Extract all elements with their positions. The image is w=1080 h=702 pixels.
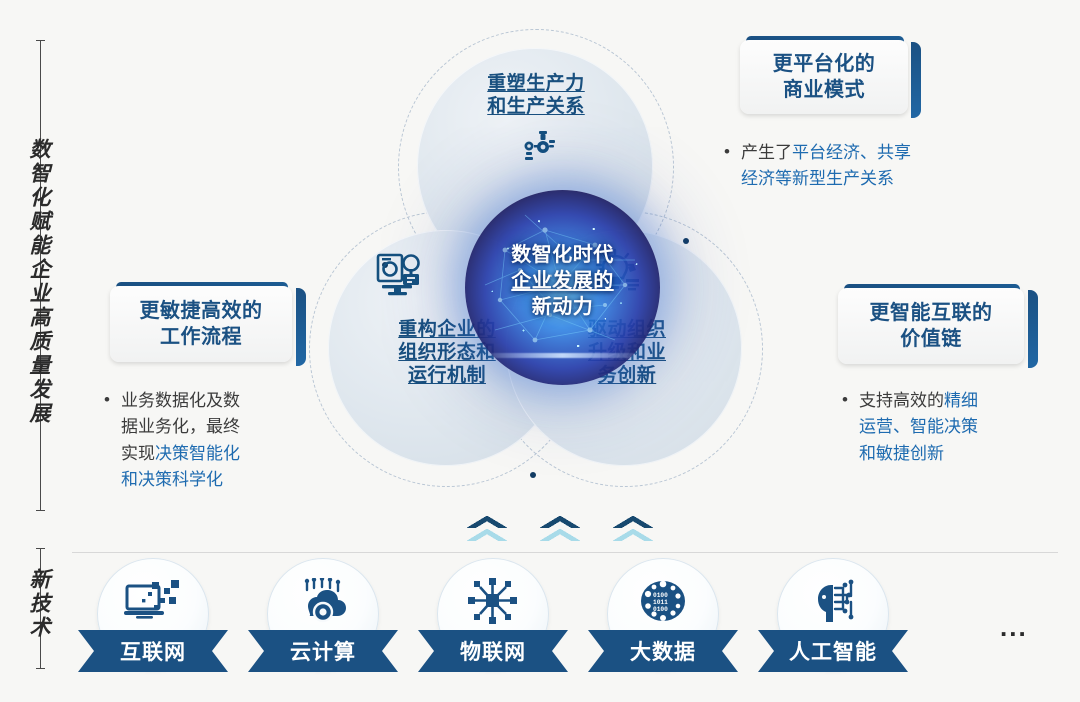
svg-text:0100: 0100 [653,606,668,613]
axis-cap-top [36,40,45,41]
globe-base-reflection [477,353,649,358]
card-valuechain[interactable]: 更智能互联的 价值链 [838,284,1038,374]
monitor-analysis-icon [376,252,428,303]
card-platform[interactable]: 更平台化的 商业模式 [740,36,920,124]
tech-label: 人工智能 [789,636,877,666]
card-workflow[interactable]: 更敏捷高效的 工作流程 [110,282,305,372]
tech-label: 物联网 [460,636,526,666]
globe-title: 数智化时代 企业发展的 新动力 [465,242,660,320]
card-platform-title-line1: 更平台化的 [773,53,876,75]
bullet-line-1b: 平台经济、共享 [792,143,911,162]
tech-label: 云计算 [290,636,356,666]
tech-ribbon: 互联网 [78,630,228,672]
venn-diagram: 重塑生产力 和生产关系 [320,40,750,500]
tech-ribbon: 云计算 [248,630,398,672]
tech-ribbon: 人工智能 [758,630,908,672]
card-valuechain-title-line2: 价值链 [900,328,962,350]
card-workflow-title-line1: 更敏捷高效的 [140,300,263,322]
bullet-line-3b: 决策智能化 [155,444,240,463]
tech-label: 大数据 [630,636,696,666]
card-platform-panel: 更平台化的 商业模式 [740,40,908,114]
bullet-text: 业务数据化及数 据业务化，最终 实现决策智能化 和决策科学化 [121,388,304,493]
ai-head-circuit-icon [758,578,908,624]
axis-cap-mid-lower [36,548,45,549]
card-workflow-bullet: • 业务数据化及数 据业务化，最终 实现决策智能化 和决策科学化 [104,388,304,493]
bullet-marker: • [724,139,730,165]
bullet-marker: • [842,387,848,413]
bullet-marker: • [104,387,110,413]
tech-badge-cloud[interactable]: 云计算 [248,558,398,688]
bullet-text: 产生了平台经济、共享 经济等新型生产关系 [741,140,994,193]
lobe-top-title: 重塑生产力 和生产关系 [438,72,634,118]
infographic-canvas: 数智化赋能企业高质量发展 新技术 重塑生产力 和生产关系 [0,0,1080,702]
bullet-line-1a: 产生了 [741,143,792,162]
lobe-top-line2: 和生产关系 [487,96,585,117]
venn-node-dot [530,472,536,478]
chevron-up-icon-2 [540,516,580,546]
bullet-line-3: 和敏捷创新 [859,444,944,463]
svg-text:1011: 1011 [653,599,668,606]
axis-label-lower: 新技术 [24,568,54,658]
binary-chip-icon: 0100 1011 0100 [588,578,738,624]
bullet-text: 支持高效的精细 运营、智能决策 和敏捷创新 [859,388,1052,467]
tech-label: 互联网 [120,636,186,666]
card-platform-title: 更平台化的 商业模式 [773,51,876,103]
svg-text:0100: 0100 [653,592,668,599]
bullet-line-1b: 精细 [944,391,978,410]
card-valuechain-title: 更智能互联的 价值链 [870,300,993,352]
tech-badge-internet[interactable]: 互联网 [78,558,228,688]
cloud-gear-icon [248,578,398,624]
axis-cap-bottom [36,668,45,669]
bullet-line-2: 据业务化，最终 [121,417,240,436]
chevron-up-icon-3 [613,516,653,546]
chevron-up-icon-1 [467,516,507,546]
bullet-line-3a: 实现 [121,444,155,463]
gears-robot-icon [516,130,558,171]
bullet-line-4: 和决策科学化 [121,470,223,489]
card-workflow-panel: 更敏捷高效的 工作流程 [110,286,292,362]
card-valuechain-right-bar [1028,290,1038,368]
tech-badge-ai[interactable]: 人工智能 [758,558,908,688]
card-platform-bullet: • 产生了平台经济、共享 经济等新型生产关系 [724,140,994,193]
axis-cap-mid-upper [36,510,45,511]
globe-line3: 新动力 [532,296,594,318]
bullet-line-2: 运营、智能决策 [859,417,978,436]
card-workflow-right-bar [296,288,306,366]
card-workflow-title-line2: 工作流程 [160,326,242,348]
tech-badge-iot[interactable]: 物联网 [418,558,568,688]
axis-label-upper: 数智化赋能企业高质量发展 [24,138,54,468]
card-valuechain-title-line1: 更智能互联的 [870,302,993,324]
bullet-line-2: 经济等新型生产关系 [741,169,894,188]
tech-ribbon: 大数据 [588,630,738,672]
globe-line1: 数智化时代 [511,244,614,266]
globe-line2: 企业发展的 [511,270,614,292]
iot-nodes-icon [418,578,568,624]
bullet-line-1: 业务数据化及数 [121,391,240,410]
center-globe[interactable]: 数智化时代 企业发展的 新动力 [465,190,660,385]
lobe-top-line1: 重塑生产力 [487,73,585,94]
laptop-pixels-icon [78,578,228,624]
venn-node-dot [683,238,689,244]
tech-ellipsis: ... [1000,612,1028,643]
card-platform-right-bar [911,42,921,118]
section-divider [72,552,1058,553]
card-workflow-title: 更敏捷高效的 工作流程 [140,298,263,350]
card-valuechain-panel: 更智能互联的 价值链 [838,288,1024,364]
card-platform-title-line2: 商业模式 [783,79,865,101]
tech-ribbon: 物联网 [418,630,568,672]
card-valuechain-bullet: • 支持高效的精细 运营、智能决策 和敏捷创新 [842,388,1052,467]
tech-badge-bigdata[interactable]: 0100 1011 0100 大数据 [588,558,738,688]
bullet-line-1a: 支持高效的 [859,391,944,410]
